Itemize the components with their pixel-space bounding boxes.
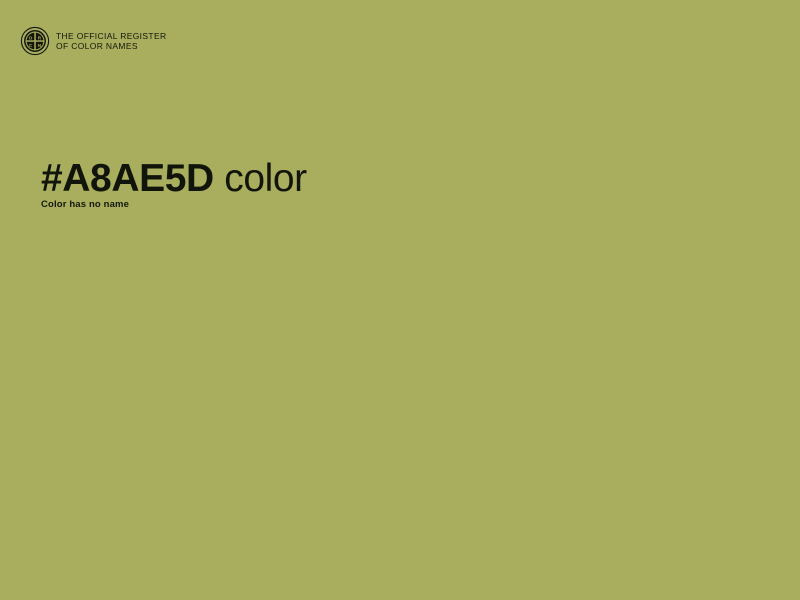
brand-line-1: THE OFFICIAL REGISTER [56,31,166,42]
brand-line-2: OF COLOR NAMES [56,41,166,52]
color-swatch-background [0,0,800,600]
svg-text:O: O [29,35,33,40]
color-detail-page: O R C N THE OFFICIAL REGISTER OF COLOR N… [0,0,800,600]
color-title-suffix: color [214,157,307,200]
brand-wordmark: THE OFFICIAL REGISTER OF COLOR NAMES [56,31,166,52]
page-title: #A8AE5D color [41,157,307,201]
brand-header[interactable]: O R C N THE OFFICIAL REGISTER OF COLOR N… [20,26,166,56]
color-name-status: Color has no name [41,198,129,211]
color-hex-value: #A8AE5D [41,157,214,200]
register-seal-icon: O R C N [20,26,50,56]
